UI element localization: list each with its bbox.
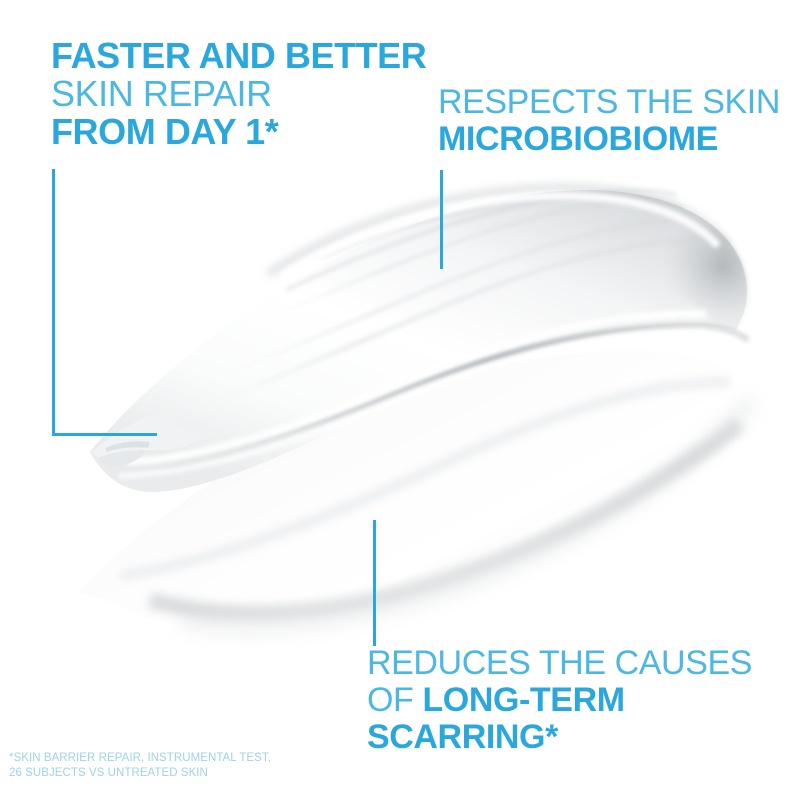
footnote-line1: *SKIN BARRIER REPAIR, INSTRUMENTAL TEST, [9,751,271,766]
cream-top-edge-shade [268,188,728,274]
footnote-disclaimer: *SKIN BARRIER REPAIR, INSTRUMENTAL TEST,… [9,751,271,780]
infographic-canvas: FASTER AND BETTER SKIN REPAIR FROM DAY 1… [0,0,800,800]
cream-drop-shadow [180,400,752,625]
connector-line-scarring [373,520,376,646]
footnote-line2: 26 SUBJECTS VS UNTREATED SKIN [9,766,271,781]
cream-lower-lobe [78,350,742,635]
callout-reduces-scarring: REDUCES THE CAUSES OF LONG-TERM SCARRING… [367,645,752,756]
callout-respects-microbiome: RESPECTS THE SKIN MICROBIOBIOME [438,84,780,158]
cream-lower-shadow [150,424,740,613]
callout-repair-line1: FASTER AND BETTER [51,37,426,75]
cream-brush-streaks [158,191,690,420]
callout-scarring-line2-prefix: OF [367,681,422,719]
cream-upper-ridge [112,326,748,470]
connector-line-microbiome [440,170,443,269]
cream-upper-ridge-highlight [128,314,706,462]
callout-scarring-line1: REDUCES THE CAUSES [367,645,752,682]
callout-scarring-line3: SCARRING* [367,719,752,756]
callout-faster-skin-repair: FASTER AND BETTER SKIN REPAIR FROM DAY 1… [51,37,426,151]
callout-microbiome-line1: RESPECTS THE SKIN [438,84,780,121]
callout-scarring-line2-emphasis: LONG-TERM [422,681,624,719]
callout-scarring-line2: OF LONG-TERM [367,682,752,719]
connector-line-repair-vertical [52,169,55,436]
callout-microbiome-line2: MICROBIOBIOME [438,121,780,158]
cream-lower-highlight [120,382,730,576]
cream-top-edge-highlight [282,196,718,276]
cream-upper-lobe [90,190,747,492]
connector-line-repair-horizontal [52,433,157,436]
cream-lobe-separator [118,332,706,476]
cream-left-tip [92,412,206,466]
cream-right-cap-shade [633,213,748,338]
callout-repair-line3: FROM DAY 1* [51,113,426,151]
callout-repair-line2: SKIN REPAIR [51,75,426,113]
